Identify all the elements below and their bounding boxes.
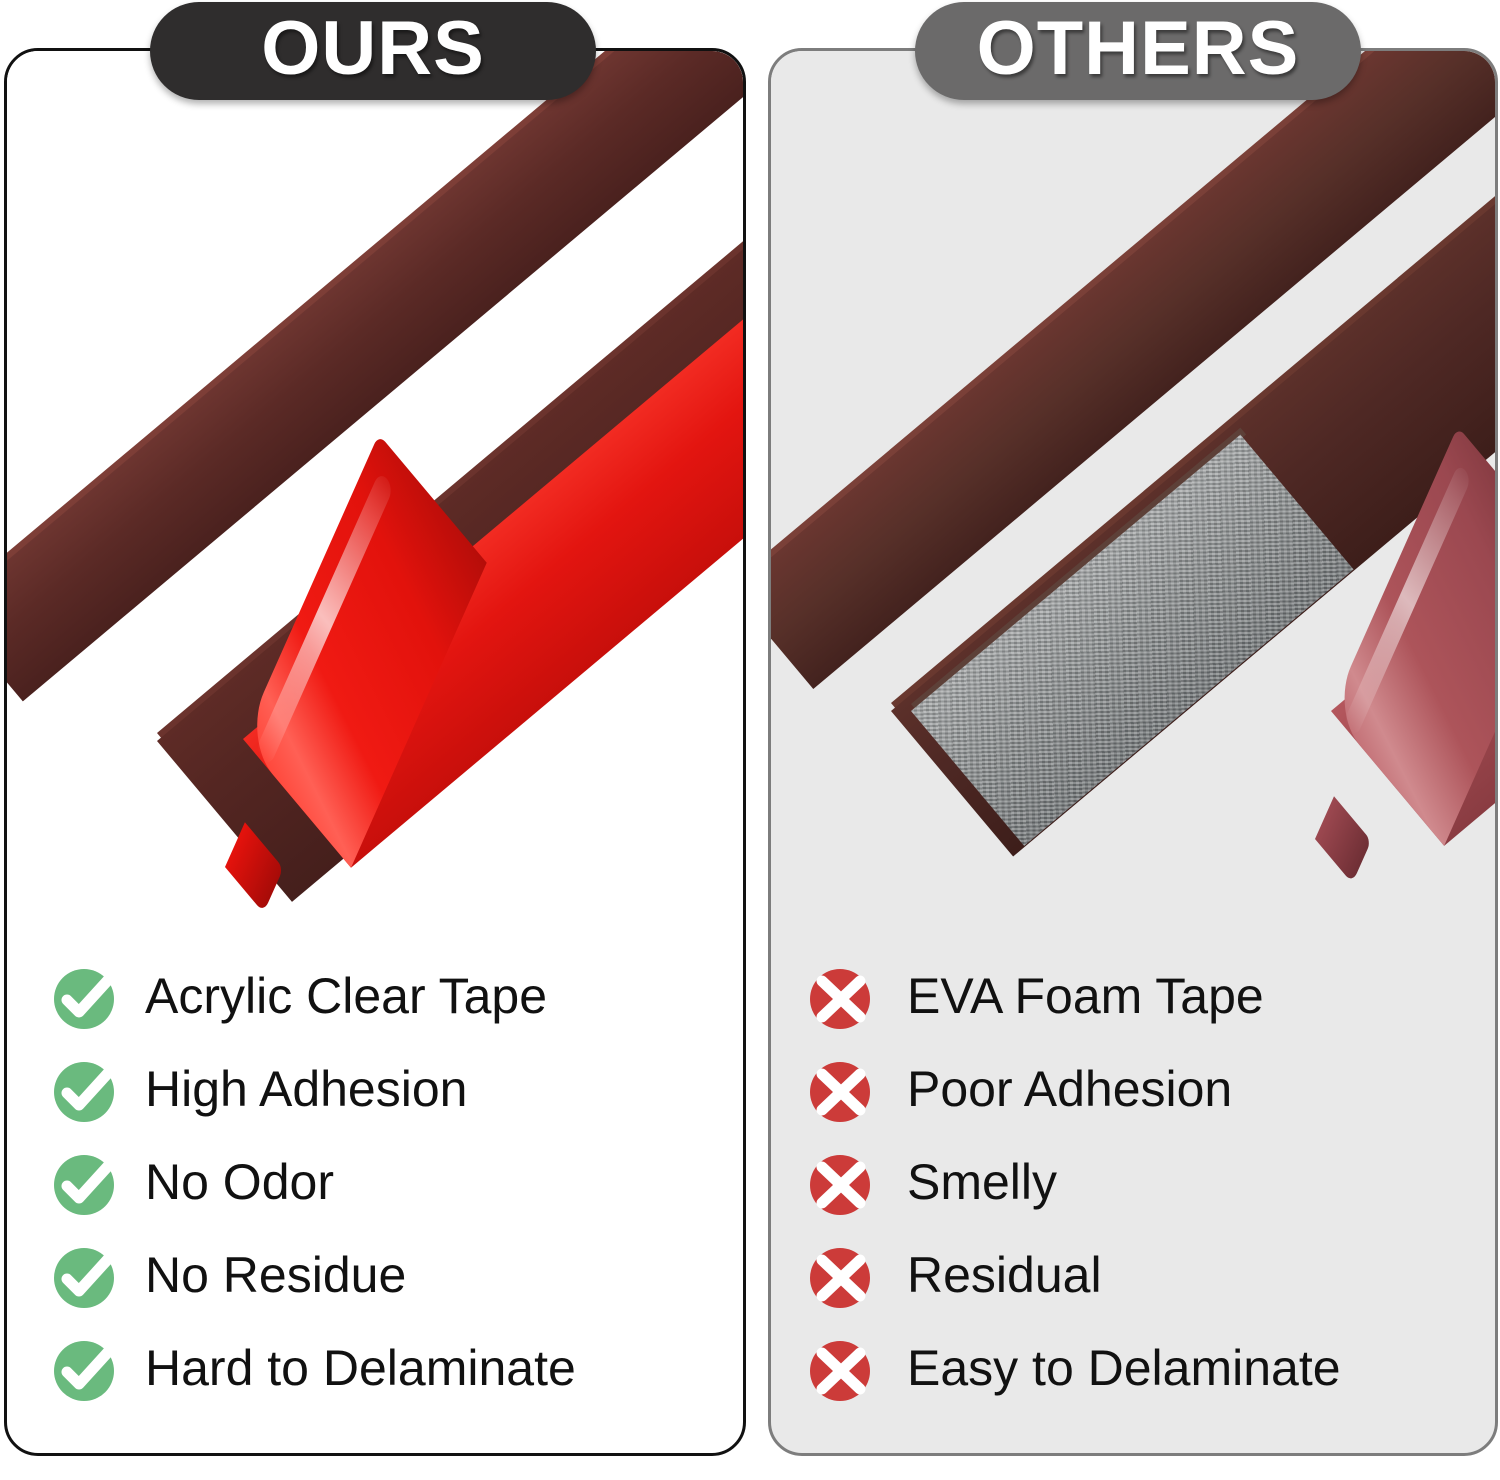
list-item: Smelly — [771, 1135, 1495, 1228]
feature-label: Poor Adhesion — [907, 1064, 1232, 1114]
list-item: Residual — [771, 1228, 1495, 1321]
x-circle-icon — [807, 963, 873, 1029]
x-circle-icon — [807, 1335, 873, 1401]
feature-label: Hard to Delaminate — [145, 1343, 576, 1393]
feature-label: Acrylic Clear Tape — [145, 971, 547, 1021]
comparison-panel-others: EVA Foam Tape Poor Adhesion Smelly Resid… — [768, 48, 1498, 1456]
x-circle-icon — [807, 1056, 873, 1122]
check-circle-icon — [51, 1056, 117, 1122]
product-photo-ours — [7, 51, 743, 931]
badge-others: OTHERS — [915, 2, 1361, 100]
x-circle-icon — [807, 1149, 873, 1215]
feature-label: Smelly — [907, 1157, 1057, 1207]
list-item: Hard to Delaminate — [7, 1321, 743, 1414]
list-item: Acrylic Clear Tape — [7, 949, 743, 1042]
check-circle-icon — [51, 1149, 117, 1215]
list-item: No Residue — [7, 1228, 743, 1321]
maroon-liner-tip — [1315, 796, 1371, 883]
feature-list-others: EVA Foam Tape Poor Adhesion Smelly Resid… — [771, 949, 1495, 1414]
badge-label: OTHERS — [977, 11, 1300, 87]
list-item: EVA Foam Tape — [771, 949, 1495, 1042]
check-circle-icon — [51, 1335, 117, 1401]
feature-label: EVA Foam Tape — [907, 971, 1264, 1021]
badge-label: OURS — [261, 11, 485, 87]
check-circle-icon — [51, 1242, 117, 1308]
product-photo-others — [771, 51, 1495, 931]
feature-list-ours: Acrylic Clear Tape High Adhesion No Odor… — [7, 949, 743, 1414]
feature-label: High Adhesion — [145, 1064, 467, 1114]
list-item: High Adhesion — [7, 1042, 743, 1135]
feature-label: Residual — [907, 1250, 1102, 1300]
feature-label: No Residue — [145, 1250, 406, 1300]
list-item: Poor Adhesion — [771, 1042, 1495, 1135]
badge-ours: OURS — [150, 2, 596, 100]
list-item: Easy to Delaminate — [771, 1321, 1495, 1414]
feature-label: Easy to Delaminate — [907, 1343, 1341, 1393]
check-circle-icon — [51, 963, 117, 1029]
feature-label: No Odor — [145, 1157, 334, 1207]
x-circle-icon — [807, 1242, 873, 1308]
comparison-panel-ours: Acrylic Clear Tape High Adhesion No Odor… — [4, 48, 746, 1456]
list-item: No Odor — [7, 1135, 743, 1228]
